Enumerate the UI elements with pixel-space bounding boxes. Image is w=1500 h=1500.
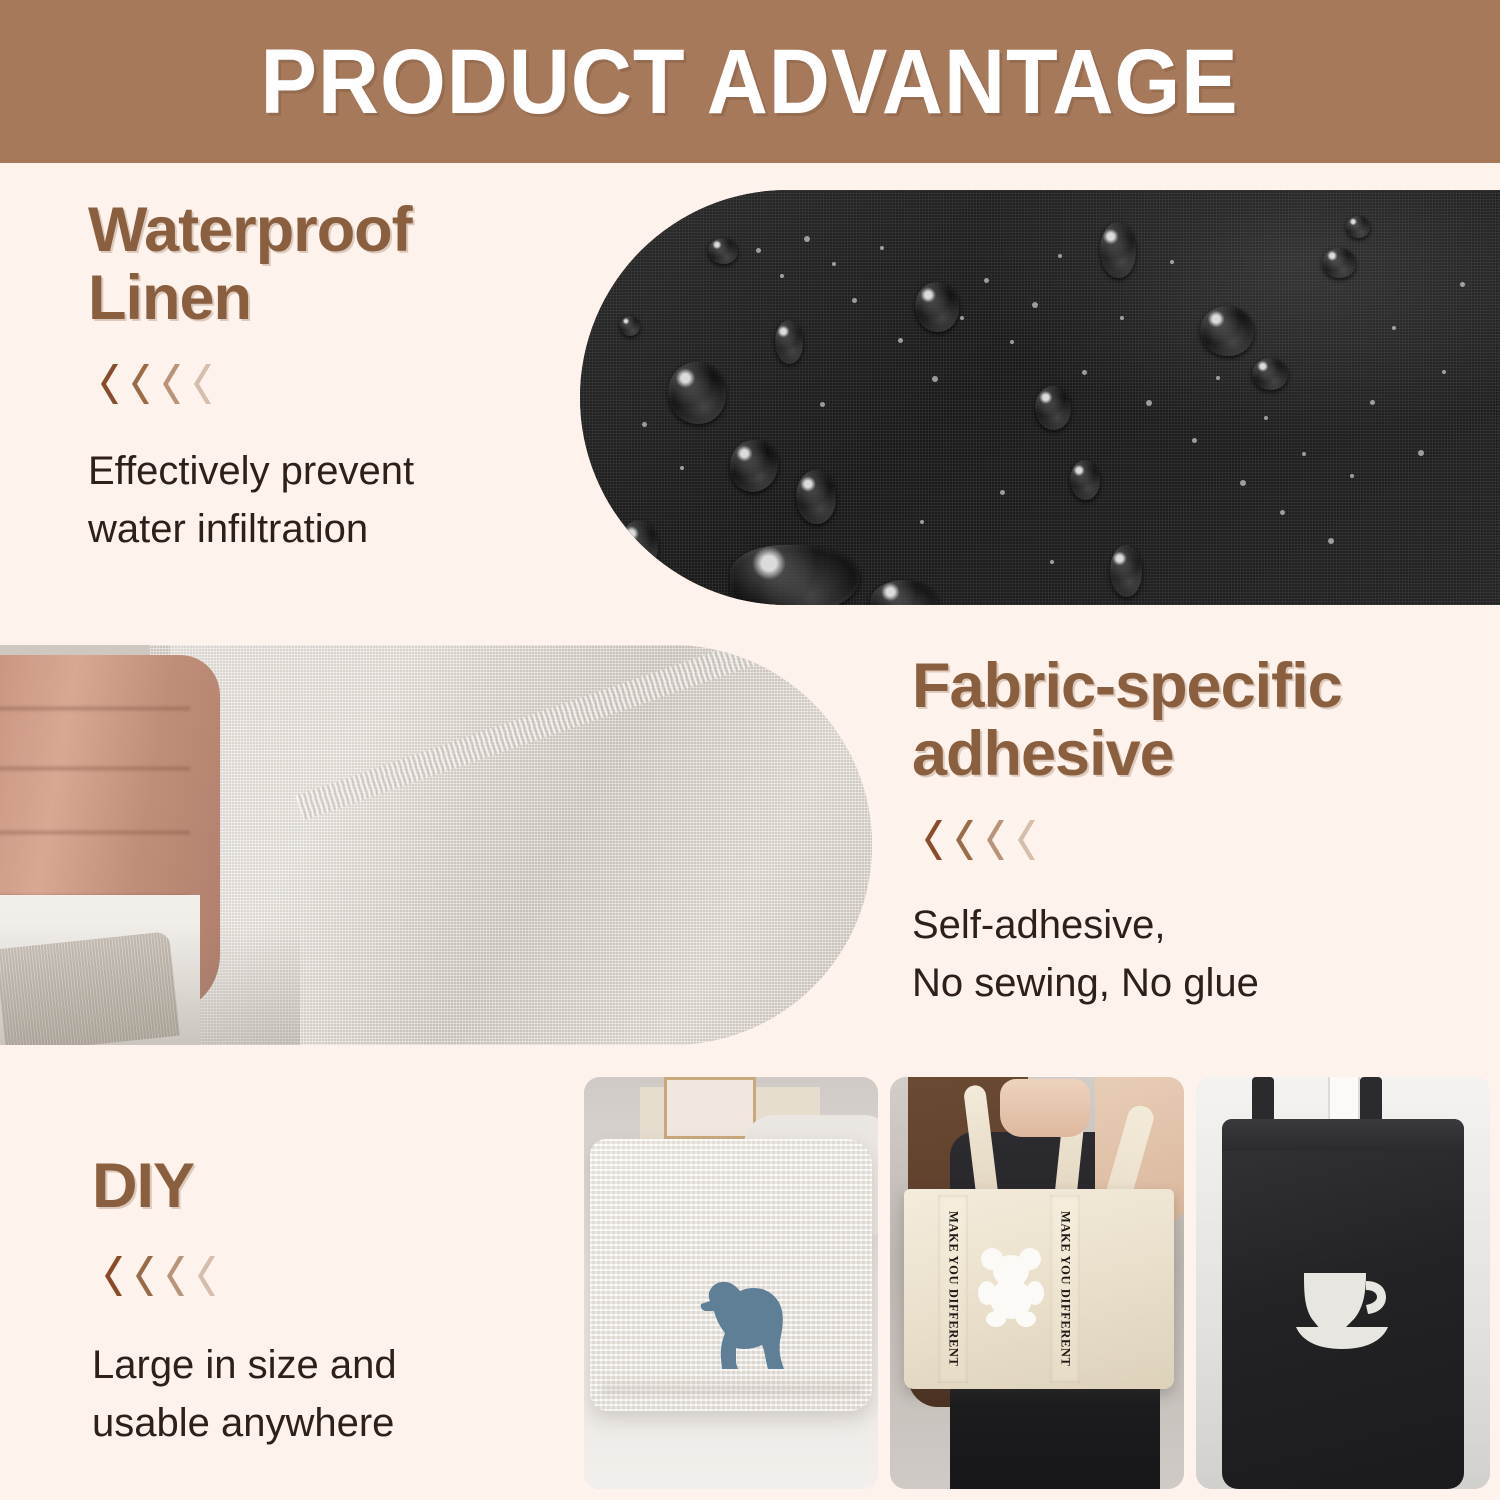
tote-strap-left: MAKE YOU DIFFERENT xyxy=(938,1195,968,1383)
diy-example-gallery: MAKE YOU DIFFERENT MAKE YOU DIFFERENT xyxy=(584,1077,1490,1489)
feature-description-diy: Large in size and usable anywhere xyxy=(92,1336,542,1452)
image-waterproof-fabric xyxy=(580,190,1500,605)
dog-silhouette-icon xyxy=(692,1271,804,1377)
chevron-left-icon xyxy=(189,362,217,406)
product-advantage-infographic: PRODUCT ADVANTAGE Waterproof Linen Effec… xyxy=(0,0,1500,1500)
chevron-left-icon xyxy=(100,1254,128,1298)
picture-frame xyxy=(664,1077,756,1139)
feature-heading-waterproof: Waterproof Linen xyxy=(88,196,558,332)
gallery-item-pillow xyxy=(584,1077,878,1489)
feature-block-waterproof: Waterproof Linen Effectively prevent wat… xyxy=(88,196,558,558)
pillow-crease xyxy=(602,1377,862,1395)
chevron-left-icon xyxy=(920,818,948,862)
image-linen-fabric xyxy=(0,645,872,1045)
bear-silhouette-icon xyxy=(978,1245,1044,1327)
model-hand xyxy=(1000,1079,1090,1137)
tote-strap-text: MAKE YOU DIFFERENT xyxy=(946,1211,961,1366)
feature-description-waterproof: Effectively prevent water infiltration xyxy=(88,442,558,558)
chevron-group-diy xyxy=(100,1254,542,1298)
chevron-left-icon xyxy=(162,1254,190,1298)
gallery-item-tote-bag: MAKE YOU DIFFERENT MAKE YOU DIFFERENT xyxy=(890,1077,1184,1489)
teacup-icon xyxy=(1292,1269,1392,1353)
tote-strap-right: MAKE YOU DIFFERENT xyxy=(1050,1195,1080,1383)
feature-heading-adhesive: Fabric-specific adhesive xyxy=(912,652,1472,788)
chevron-left-icon xyxy=(158,362,186,406)
chevron-left-icon xyxy=(951,818,979,862)
apron-bib-band xyxy=(1222,1119,1464,1151)
chevron-group-waterproof xyxy=(96,362,558,406)
feature-block-diy: DIY Large in size and usable anywhere xyxy=(92,1152,542,1452)
chevron-left-icon xyxy=(193,1254,221,1298)
chevron-left-icon xyxy=(127,362,155,406)
chevron-group-adhesive xyxy=(920,818,1472,862)
chevron-left-icon xyxy=(982,818,1010,862)
page-title: PRODUCT ADVANTAGE xyxy=(261,36,1239,128)
chevron-left-icon xyxy=(1013,818,1041,862)
hand-shadow xyxy=(0,925,300,1045)
header-banner: PRODUCT ADVANTAGE xyxy=(0,0,1500,163)
pillow xyxy=(590,1139,872,1411)
chevron-left-icon xyxy=(96,362,124,406)
gallery-item-apron xyxy=(1196,1077,1490,1489)
feature-heading-diy: DIY xyxy=(92,1152,542,1220)
feature-description-adhesive: Self-adhesive, No sewing, No glue xyxy=(912,896,1472,1012)
chevron-left-icon xyxy=(131,1254,159,1298)
feature-block-adhesive: Fabric-specific adhesive Self-adhesive, … xyxy=(912,652,1472,1012)
tote-strap-text: MAKE YOU DIFFERENT xyxy=(1058,1211,1073,1366)
